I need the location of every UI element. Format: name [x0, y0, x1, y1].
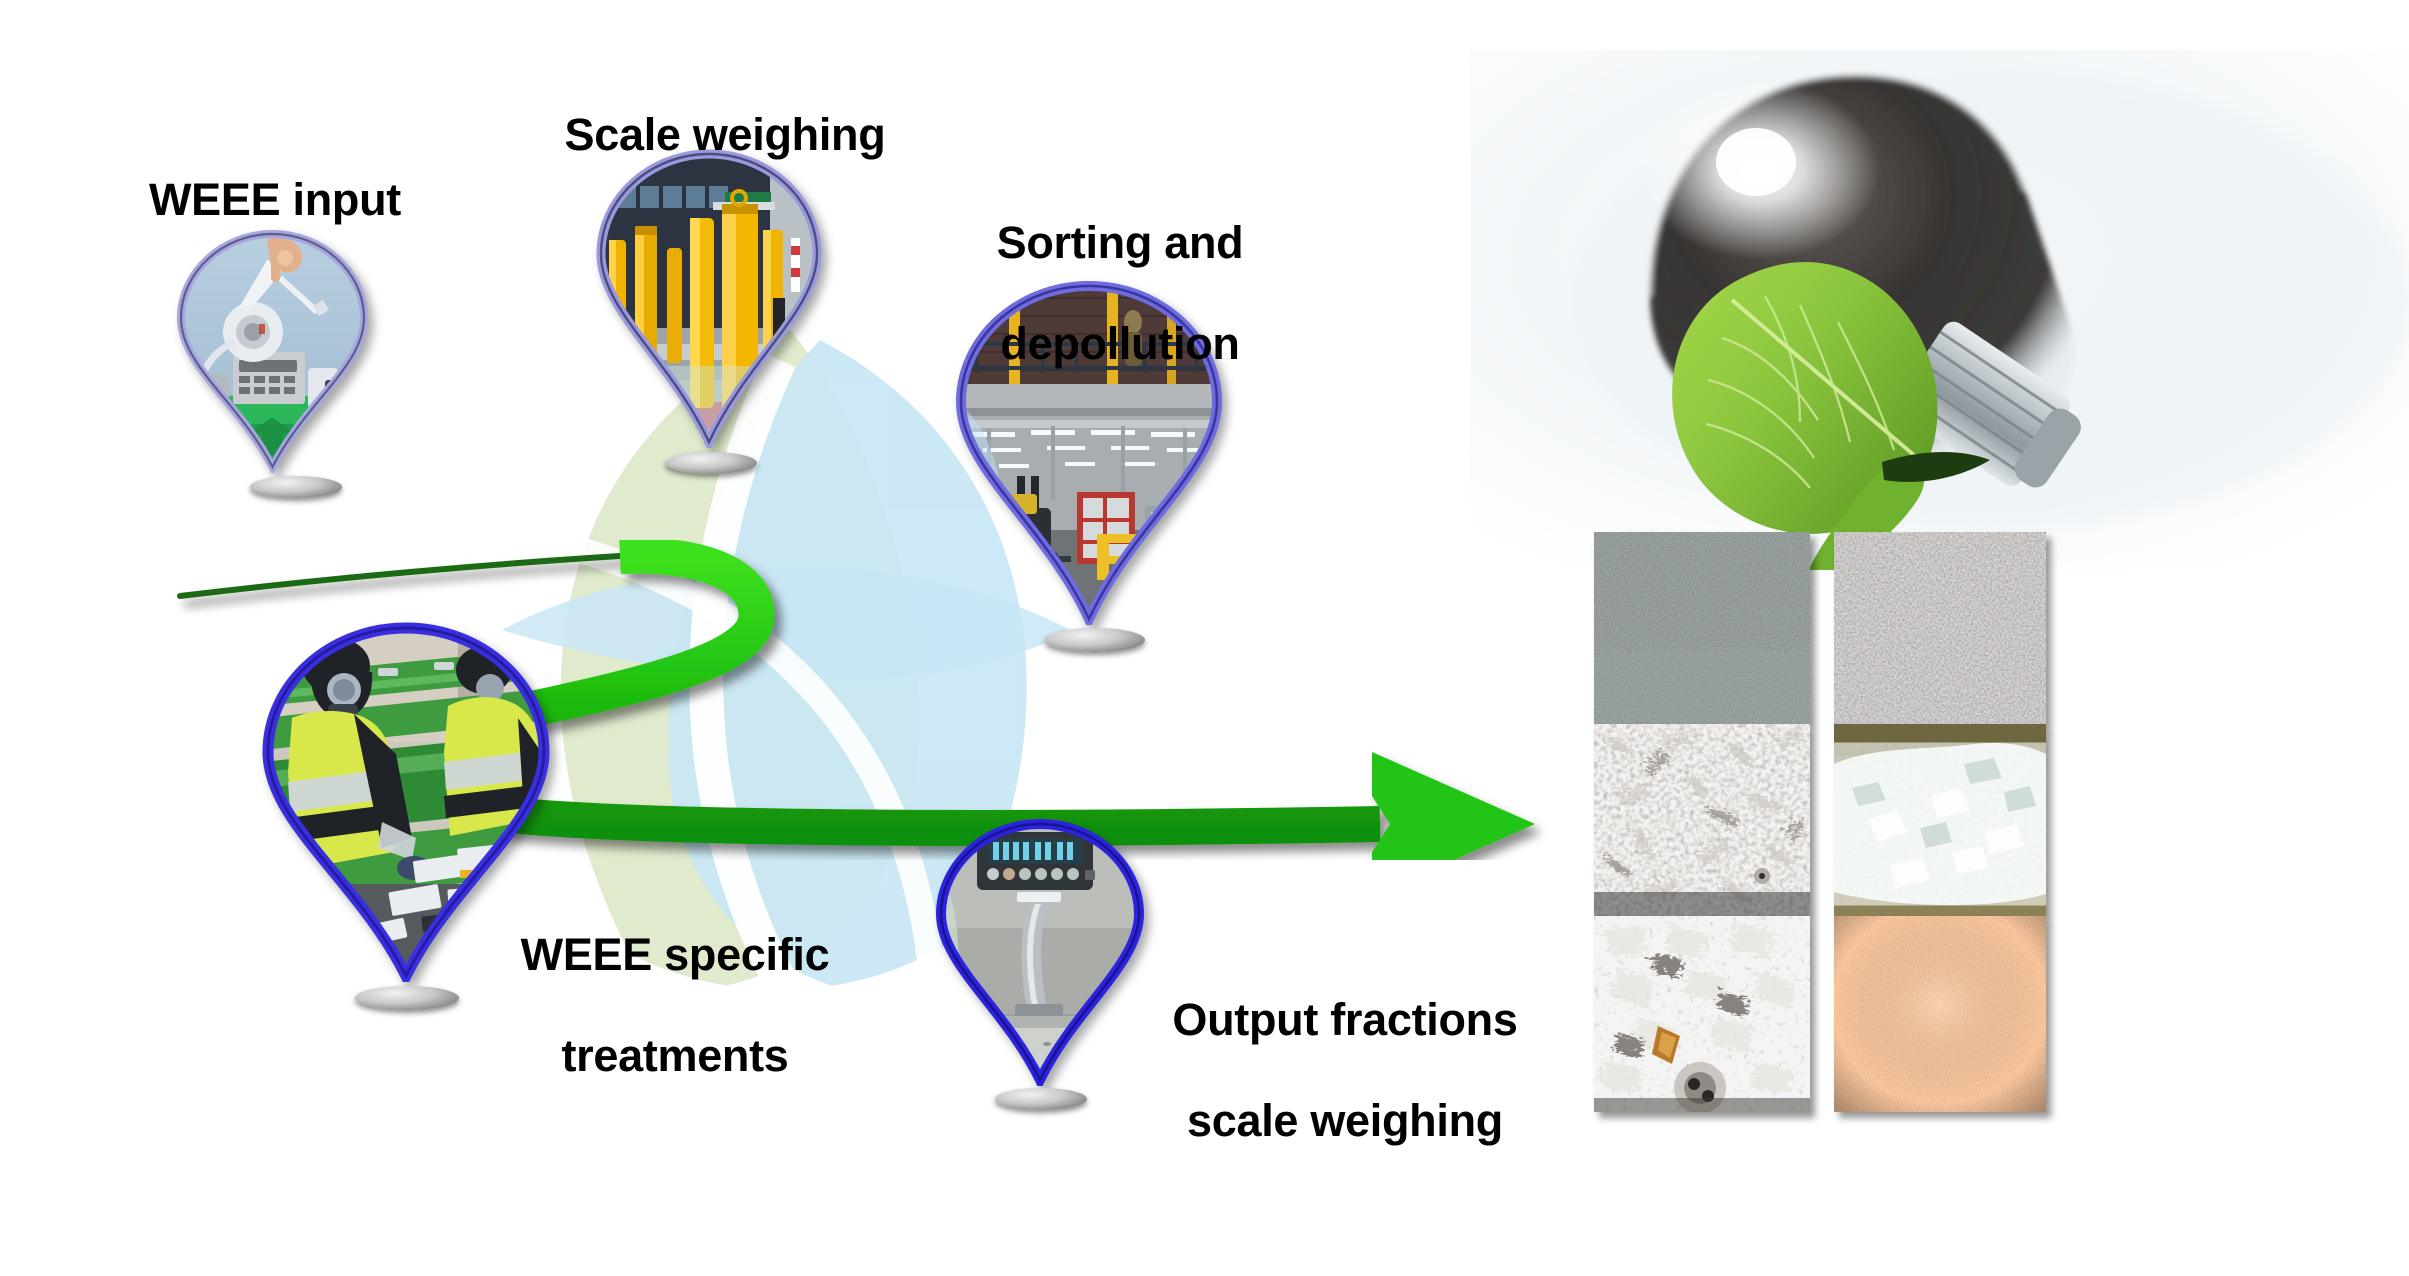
- infographic-canvas: WEEE input Scale weighing Sorting and de…: [0, 0, 2409, 1276]
- label-output-fractions-line2: scale weighing: [1155, 1096, 1535, 1146]
- pin-output-scale-weighing-graphic: [935, 818, 1145, 1086]
- pin-weee-input-graphic: [175, 228, 370, 473]
- pin-base-weee-specific-treatments: [355, 986, 459, 1010]
- eco-lightbulb: [1470, 50, 2409, 570]
- aluminium-scrap-texture: [1594, 724, 1810, 916]
- pin-base-scale-weighing: [665, 452, 757, 474]
- label-weee-specific-treatments-line1: WEEE specific: [500, 930, 850, 980]
- leaf-icon: [1672, 262, 1990, 570]
- label-sorting-depollution-line2: depollution: [955, 319, 1285, 369]
- output-fraction-swatch-6: [1834, 916, 2046, 1112]
- pin-base-weee-input: [250, 476, 342, 498]
- label-weee-specific-treatments-line2: treatments: [500, 1031, 850, 1081]
- label-output-fractions-line1: Output fractions: [1155, 995, 1535, 1045]
- dark-grey-granulate-texture: [1594, 532, 1810, 724]
- bright-metal-scrap-texture: [1594, 916, 1810, 1112]
- label-scale-weighing: Scale weighing: [545, 110, 905, 160]
- label-weee-specific-treatments: WEEE specific treatments: [500, 880, 850, 1132]
- pin-base-output-scale-weighing: [995, 1088, 1087, 1110]
- label-sorting-depollution: Sorting and depollution: [955, 168, 1285, 420]
- output-fraction-swatch-3: [1594, 724, 1810, 916]
- pin-output-scale-weighing[interactable]: [935, 818, 1145, 1086]
- label-weee-input: WEEE input: [110, 175, 440, 225]
- label-output-fractions-scale-weighing: Output fractions scale weighing: [1155, 945, 1535, 1197]
- pin-scale-weighing[interactable]: [595, 148, 823, 448]
- output-fraction-swatch-2: [1834, 532, 2046, 724]
- pin-base-sorting-depollution: [1045, 628, 1145, 652]
- output-fraction-swatch-1: [1594, 532, 1810, 724]
- silver-grey-granulate-texture: [1834, 532, 2046, 724]
- pin-scale-weighing-graphic: [595, 148, 823, 448]
- label-sorting-depollution-line1: Sorting and: [955, 218, 1285, 268]
- pin-weee-input[interactable]: [175, 228, 370, 473]
- output-fraction-swatch-4: [1834, 724, 2046, 916]
- white-plastic-flakes-texture: [1834, 724, 2046, 916]
- output-fraction-swatch-5: [1594, 916, 1810, 1112]
- copper-granulate-texture: [1834, 916, 2046, 1112]
